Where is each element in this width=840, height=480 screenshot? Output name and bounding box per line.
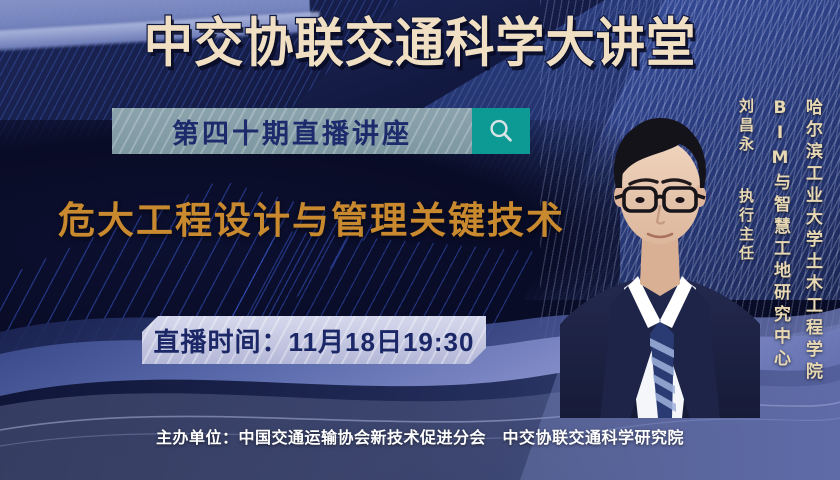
poster-canvas: 中交协联交通科学大讲堂 第四十期直播讲座 危大工程设计与管理关键技术 直播时间：… [0,0,840,480]
lecture-headline: 危大工程设计与管理关键技术 [58,190,565,244]
page-title: 中交协联交通科学大讲堂 [29,16,810,72]
episode-banner[interactable]: 第四十期直播讲座 [112,108,530,154]
speaker-school: 哈尔滨工业大学土木工程学院 [800,98,825,384]
live-time-text: 直播时间：11月18日19:30 [154,322,475,359]
page-title-text: 中交协联交通科学大讲堂 [144,16,696,72]
speaker-name: 刘昌永 [736,98,757,155]
search-icon [487,117,515,145]
speaker-portrait [560,88,760,418]
search-button[interactable] [472,108,530,154]
speaker-role: 执行主任 [736,188,757,264]
speaker-center: BIM与智慧工地研究中心 [768,98,793,371]
episode-label: 第四十期直播讲座 [112,108,472,154]
live-time-banner: 直播时间：11月18日19:30 [142,316,486,364]
organizer-footer: 主办单位：中国交通运输协会新技术促进分会 中交协联交通科学研究院 [0,424,840,448]
